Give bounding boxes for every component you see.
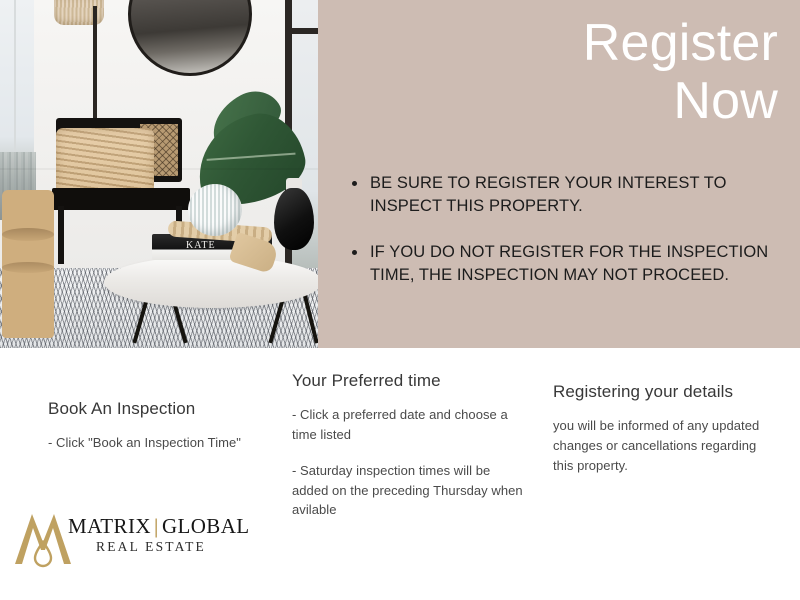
page-title: Register Now xyxy=(338,14,778,130)
ribbed-glass-vase xyxy=(188,184,242,236)
column-paragraph: - Click a preferred date and choose a ti… xyxy=(292,405,527,445)
headline-line-1: Register xyxy=(583,14,778,72)
headline-panel: Register Now BE SURE TO REGISTER YOUR IN… xyxy=(318,0,800,348)
logo-name-primary: MATRIX xyxy=(68,514,151,538)
matrix-m-icon xyxy=(12,508,74,568)
chair-seat xyxy=(52,188,190,210)
headline-line-2: Now xyxy=(673,72,778,130)
woven-cushion xyxy=(56,128,154,196)
logo-separator: | xyxy=(151,514,162,538)
interior-photo: KATE xyxy=(0,0,318,348)
column-paragraph: - Click "Book an Inspection Time" xyxy=(48,433,278,453)
info-columns-band: Book An Inspection - Click "Book an Insp… xyxy=(0,348,800,600)
logo-primary-line: MATRIX|GLOBAL xyxy=(68,516,248,537)
hero-band: KATE Register Now BE SURE TO REGISTER YO… xyxy=(0,0,800,348)
marble-coffee-table xyxy=(104,256,318,308)
chair-leg-left xyxy=(58,206,64,264)
column-registering-your-details: Registering your details you will be inf… xyxy=(553,381,778,476)
column-your-preferred-time: Your Preferred time - Click a preferred … xyxy=(292,370,527,520)
stool-groove-upper xyxy=(2,228,54,241)
hero-bullet-item: IF YOU DO NOT REGISTER FOR THE INSPECTIO… xyxy=(334,241,800,288)
register-now-poster: KATE Register Now BE SURE TO REGISTER YO… xyxy=(0,0,800,600)
book-title: KATE xyxy=(186,240,216,251)
column-paragraph: - Saturday inspection times will be adde… xyxy=(292,461,527,520)
column-book-an-inspection: Book An Inspection - Click "Book an Insp… xyxy=(48,398,278,453)
column-title: Your Preferred time xyxy=(292,370,527,391)
logo-tagline: REAL ESTATE xyxy=(68,540,234,554)
hero-bullet-list: BE SURE TO REGISTER YOUR INTEREST TO INS… xyxy=(334,172,800,288)
photo-seam xyxy=(0,168,318,170)
logo-wordmark: MATRIX|GLOBAL REAL ESTATE xyxy=(68,516,248,554)
column-paragraph: you will be informed of any updated chan… xyxy=(553,416,778,475)
stool-groove-lower xyxy=(2,262,54,273)
hero-bullet-item: BE SURE TO REGISTER YOUR INTEREST TO INS… xyxy=(334,172,800,219)
window-frame-horizontal xyxy=(292,28,318,34)
logo-name-secondary: GLOBAL xyxy=(162,514,250,538)
column-title: Book An Inspection xyxy=(48,398,278,419)
matrix-global-logo: MATRIX|GLOBAL REAL ESTATE xyxy=(12,508,244,570)
column-title: Registering your details xyxy=(553,381,778,402)
black-vase xyxy=(274,188,314,250)
